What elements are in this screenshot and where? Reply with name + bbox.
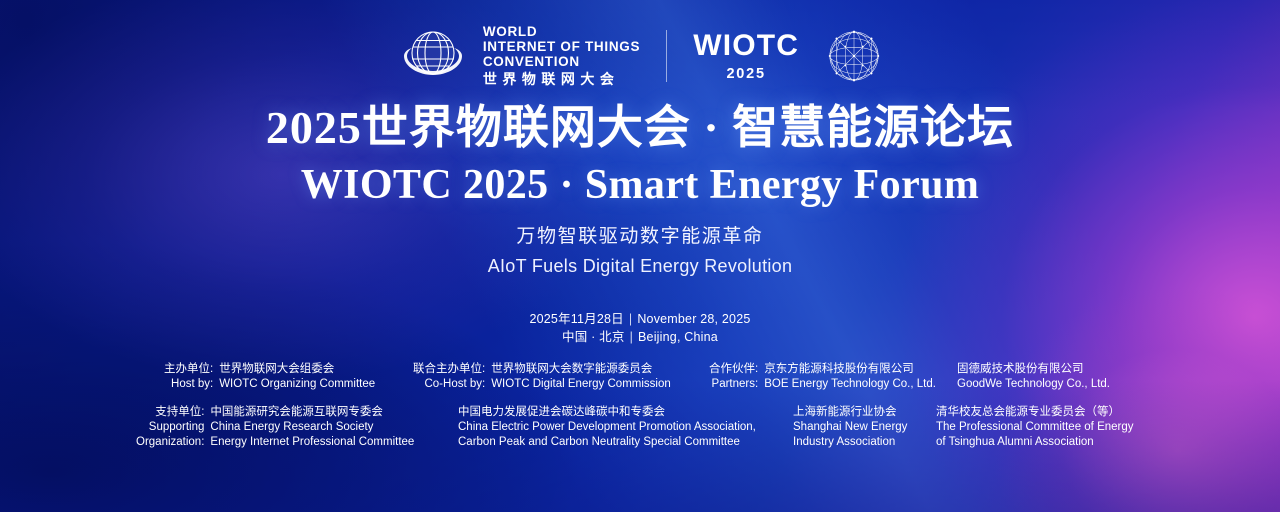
org-supporting-label-en2: Organization: [136,435,204,450]
org-partners-value-cn: 京东方能源科技股份有限公司 [764,362,936,377]
org-partners-label-en: Partners: [709,377,758,392]
title-block: 2025世界物联网大会 · 智慧能源论坛 WIOTC 2025 · Smart … [0,102,1280,210]
org-cepdpa: 中国电力发展促进会碳达峰碳中和专委会 China Electric Power … [458,405,756,451]
org-cohost-value-en: WIOTC Digital Energy Commission [491,377,671,392]
org-cepdpa-value-en1: China Electric Power Development Promoti… [458,420,756,435]
logo-en-line-1: WORLD [483,24,640,39]
date-venue-block: 2025年11月28日|November 28, 2025 中国 · 北京|Be… [0,310,1280,346]
wiotc-year: 2025 [726,66,765,82]
banner-content: WORLD INTERNET OF THINGS CONVENTION 世界物联… [0,0,1280,512]
org-host-label-cn: 主办单位: [164,362,213,377]
wiotc-globe-emblem-icon [397,25,469,87]
logo-en-line-2: INTERNET OF THINGS [483,39,640,54]
subtitle-cn: 万物智联驱动数字能源革命 [0,224,1280,251]
org-tsinghua-value-en1: The Professional Committee of Energy [936,420,1134,435]
venue-line: 中国 · 北京|Beijing, China [0,328,1280,346]
org-cohost-label-cn: 联合主办单位: [413,362,485,377]
date-cn: 2025年11月28日 [529,312,623,326]
org-shanghai-value-en1: Shanghai New Energy [793,420,907,435]
org-cohost-label-en: Co-Host by: [413,377,485,392]
venue-separator: | [625,328,638,346]
org-goodwe: 固德威技术股份有限公司 GoodWe Technology Co., Ltd. [957,362,1110,392]
org-supporting-label-cn: 支持单位: [136,405,204,420]
wiotc-acronym-block: WIOTC 2025 [693,31,799,82]
org-supporting-value-en2: Energy Internet Professional Committee [210,435,414,450]
org-supporting-value-cn: 中国能源研究会能源互联网专委会 [210,405,414,420]
org-host-value-en: WIOTC Organizing Committee [219,377,375,392]
org-host-value-cn: 世界物联网大会组委会 [219,362,375,377]
org-shanghai-value-cn: 上海新能源行业协会 [793,405,907,420]
org-shanghai-value-en2: Industry Association [793,435,907,450]
org-supporting-label-en1: Supporting [136,420,204,435]
org-host: 主办单位: 世界物联网大会组委会 Host by: WIOTC Organizi… [164,362,375,392]
wiotc-acronym: WIOTC [693,31,799,61]
org-shanghai-new-energy: 上海新能源行业协会 Shanghai New Energy Industry A… [793,405,907,451]
subtitle-en: AIoT Fuels Digital Energy Revolution [0,255,1280,278]
wiotc-wordmark: WORLD INTERNET OF THINGS CONVENTION 世界物联… [483,24,640,88]
org-cohost: 联合主办单位: 世界物联网大会数字能源委员会 Co-Host by: WIOTC… [413,362,671,392]
org-cepdpa-value-en2: Carbon Peak and Carbon Neutrality Specia… [458,435,756,450]
page-title-en: WIOTC 2025 · Smart Energy Forum [0,160,1280,210]
logo-cn-line: 世界物联网大会 [483,72,640,88]
org-supporting-value-en1: China Energy Research Society [210,420,414,435]
venue-en: Beijing, China [638,330,718,344]
org-goodwe-value-en: GoodWe Technology Co., Ltd. [957,377,1110,392]
network-globe-icon [825,27,883,85]
org-supporting: 支持单位: 中国能源研究会能源互联网专委会 Supporting China E… [136,405,414,451]
date-separator: | [624,310,637,328]
subtitle-block: 万物智联驱动数字能源革命 AIoT Fuels Digital Energy R… [0,224,1280,278]
org-partners: 合作伙伴: 京东方能源科技股份有限公司 Partners: BOE Energy… [709,362,936,392]
org-tsinghua-value-en2: of Tsinghua Alumni Association [936,435,1134,450]
org-cepdpa-value-cn: 中国电力发展促进会碳达峰碳中和专委会 [458,405,756,420]
venue-cn: 中国 · 北京 [562,330,625,344]
date-en: November 28, 2025 [637,312,750,326]
org-goodwe-value-cn: 固德威技术股份有限公司 [957,362,1110,377]
page-title-cn: 2025世界物联网大会 · 智慧能源论坛 [0,102,1280,154]
org-tsinghua-alumni: 清华校友总会能源专业委员会（等） The Professional Commit… [936,405,1134,451]
org-tsinghua-value-cn: 清华校友总会能源专业委员会（等） [936,405,1134,420]
logo-lockup: WORLD INTERNET OF THINGS CONVENTION 世界物联… [0,24,1280,88]
forum-banner: WORLD INTERNET OF THINGS CONVENTION 世界物联… [0,0,1280,512]
org-partners-label-cn: 合作伙伴: [709,362,758,377]
org-host-label-en: Host by: [164,377,213,392]
org-partners-value-en: BOE Energy Technology Co., Ltd. [764,377,936,392]
org-cohost-value-cn: 世界物联网大会数字能源委员会 [491,362,671,377]
date-line: 2025年11月28日|November 28, 2025 [0,310,1280,328]
logo-en-line-3: CONVENTION [483,54,640,69]
logo-divider [666,30,667,82]
